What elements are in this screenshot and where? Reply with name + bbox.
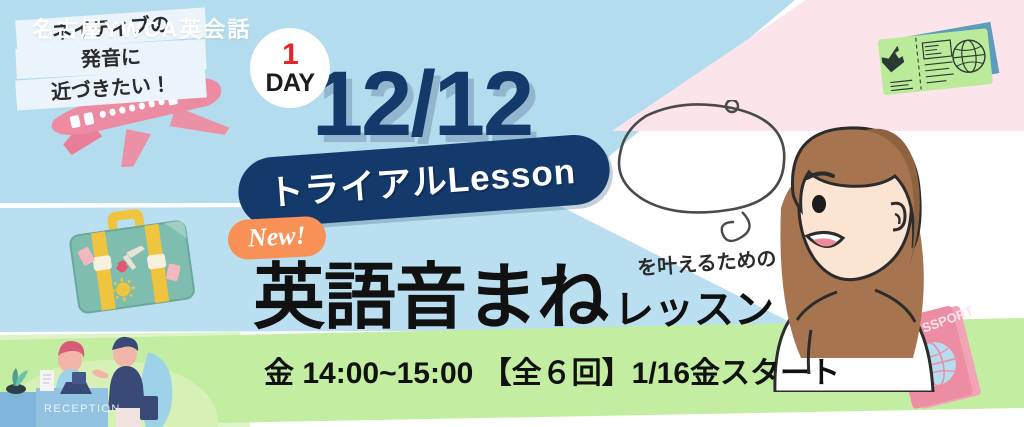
trial-lesson-label: トライアルLesson: [267, 152, 577, 213]
brand-name: 名古屋YWCA英会話: [32, 12, 251, 44]
new-badge: New!: [227, 215, 327, 260]
schedule-text: 金 14:00~15:00 【全６回】1/16金スタート: [264, 348, 840, 392]
one-day-badge: 1 DAY: [250, 28, 330, 108]
headline-main: 英語音まね: [253, 262, 608, 334]
page-title: 英語音まね レッスン: [253, 262, 774, 334]
promo-banner: 名古屋YWCA英会話: [0, 0, 1024, 427]
reception-desk-illustration: RECEPTION: [0, 330, 230, 427]
reception-label: RECEPTION: [44, 403, 121, 415]
day-label: DAY: [266, 71, 315, 96]
suitcase-icon: [58, 196, 206, 336]
event-date: 12/12: [312, 58, 532, 150]
new-badge-label: New!: [247, 221, 306, 253]
headline-sub: レッスン: [614, 290, 774, 330]
day-count: 1: [282, 40, 298, 70]
